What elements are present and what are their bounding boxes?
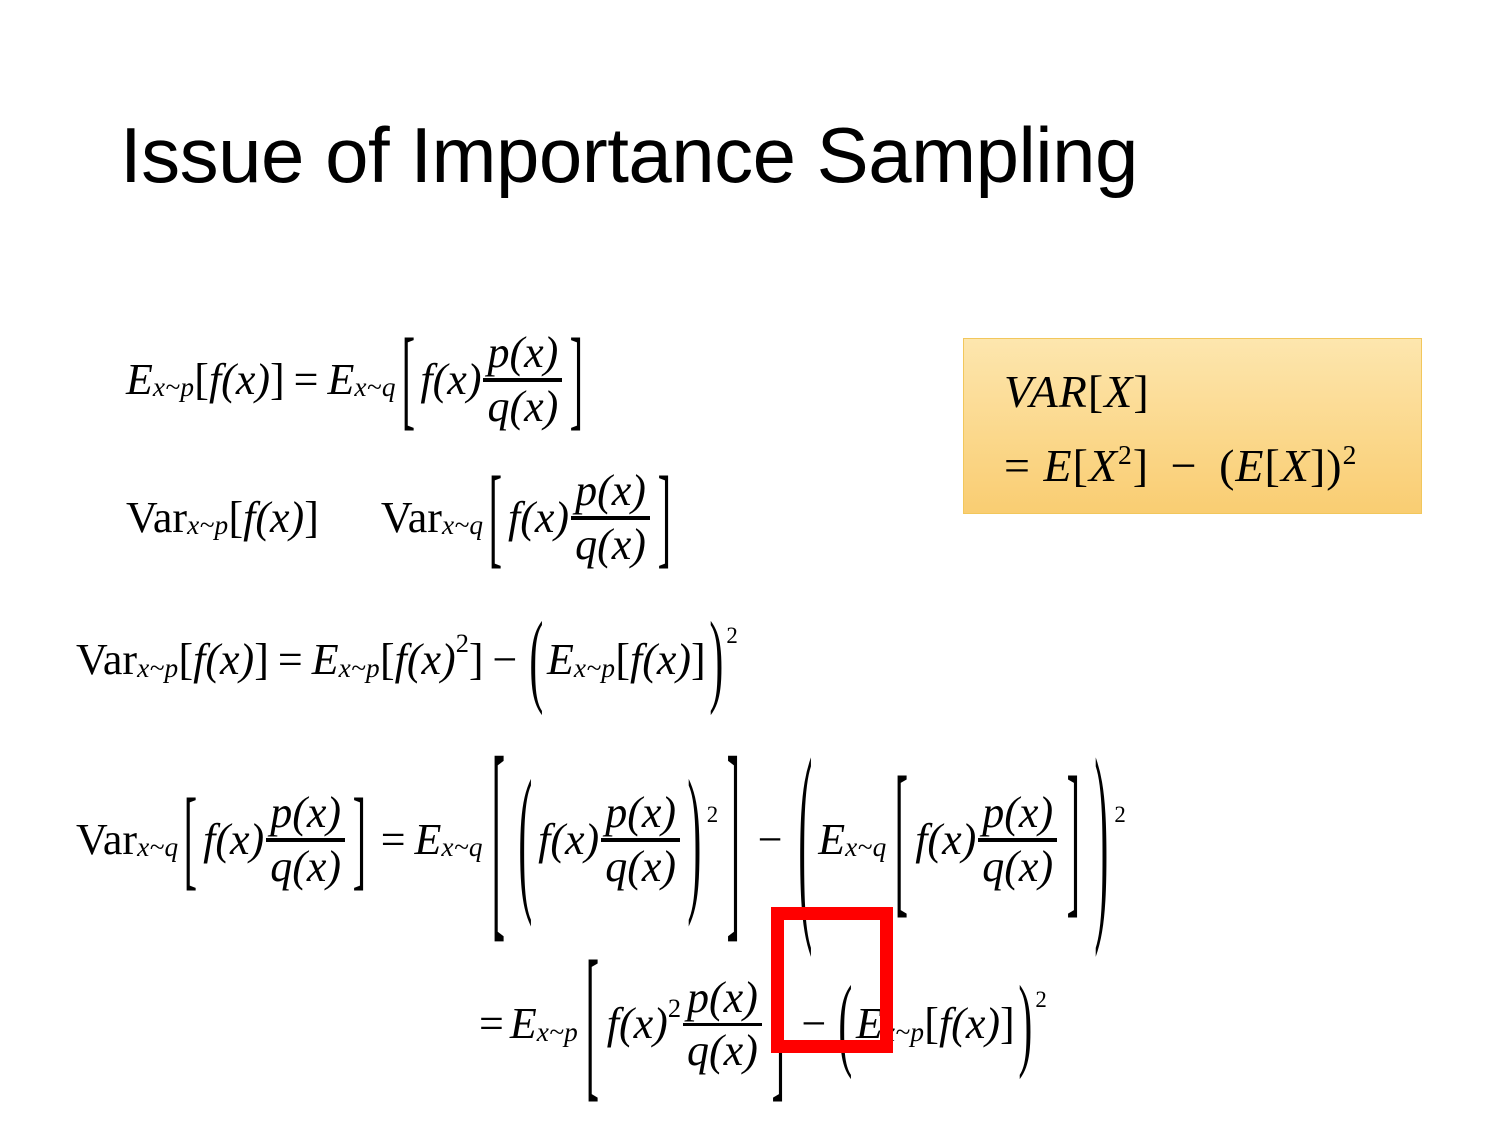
eq5-bracket-open-2: [ bbox=[924, 1002, 939, 1046]
callout-bracket-close-2: ] bbox=[1310, 440, 1326, 491]
eq5-E-2: E bbox=[856, 1002, 883, 1046]
eq4-sub-var: x~q bbox=[137, 834, 178, 861]
equation-5: = Ex~p [ f(x)2 p(x) q(x) ] − ( Ex~p [ f(… bbox=[473, 975, 1047, 1074]
eq1-equals: = bbox=[294, 358, 319, 402]
equation-4: Varx~q [ f(x) p(x) q(x) ] = Ex~q [ ( f(x… bbox=[76, 790, 1126, 890]
callout-X: X bbox=[1104, 366, 1133, 417]
eq4-sub-e1: x~q bbox=[441, 834, 482, 861]
equation-1: Ex~p [ f(x) ] = Ex~q [ f(x) p(x) q(x) ] bbox=[126, 330, 589, 430]
callout-X-1: X bbox=[1089, 440, 1118, 491]
eq3-exponent-1: 2 bbox=[456, 630, 469, 656]
eq2-numerator: p(x) bbox=[571, 468, 650, 515]
callout-X-2: X bbox=[1281, 440, 1310, 491]
eq5-bracket-close-1: ] bbox=[771, 938, 784, 1110]
eq3-bracket-close-1: ] bbox=[254, 638, 269, 682]
eq2-fx-right: f(x) bbox=[508, 496, 569, 540]
eq1-bracket-open-right: [ bbox=[401, 324, 414, 436]
eq3-paren-close: ) bbox=[709, 608, 723, 711]
eq5-fx-1: f(x) bbox=[607, 1002, 668, 1046]
eq4-fraction-2: p(x) q(x) bbox=[601, 790, 680, 890]
callout-bracket-close: ] bbox=[1133, 366, 1149, 417]
eq3-paren-open: ( bbox=[530, 608, 544, 711]
eq4-equals: = bbox=[381, 818, 406, 862]
eq4-fx-1: f(x) bbox=[203, 818, 264, 862]
callout-bracket-open-1: [ bbox=[1073, 440, 1089, 491]
eq1-fx-right: f(x) bbox=[420, 358, 481, 402]
eq4-bracket-open-2: [ bbox=[491, 728, 504, 952]
eq4-paren-open-1: ( bbox=[519, 758, 533, 921]
eq3-bracket-close-3: ] bbox=[691, 638, 706, 682]
eq2-bracket-close-left: ] bbox=[304, 496, 319, 540]
eq4-denominator-2: q(x) bbox=[601, 843, 680, 890]
eq5-exponent-2: 2 bbox=[1035, 989, 1046, 1012]
eq4-fraction-3: p(x) q(x) bbox=[978, 790, 1057, 890]
eq5-bracket-close-2: ] bbox=[1000, 1002, 1015, 1046]
eq1-fraction-p-over-q: p(x) q(x) bbox=[483, 330, 562, 430]
eq4-denominator-3: q(x) bbox=[978, 843, 1057, 890]
eq2-Var-left: Var bbox=[126, 496, 187, 540]
callout-minus: − bbox=[1171, 440, 1198, 491]
eq1-bracket-close-left: ] bbox=[270, 358, 285, 402]
callout-line-2: = E[X2] − (E[X])2 bbox=[1004, 439, 1357, 492]
eq3-fx-2: f(x) bbox=[395, 638, 456, 682]
eq3-equals: = bbox=[278, 638, 303, 682]
eq4-fx-2: f(x) bbox=[538, 818, 599, 862]
eq4-E-1: E bbox=[415, 818, 442, 862]
callout-exponent-2: 2 bbox=[1343, 439, 1358, 470]
callout-exponent-1: 2 bbox=[1118, 439, 1133, 470]
eq3-fx-1: f(x) bbox=[193, 638, 254, 682]
callout-VAR: VAR bbox=[1004, 366, 1088, 417]
eq2-fraction-p-over-q: p(x) q(x) bbox=[571, 468, 650, 568]
eq4-numerator-2: p(x) bbox=[601, 790, 680, 837]
eq3-bracket-close-2: ] bbox=[469, 638, 484, 682]
eq4-bracket-close-2: ] bbox=[727, 728, 740, 952]
eq5-E-1: E bbox=[510, 1002, 537, 1046]
eq4-bracket-open-3: [ bbox=[894, 754, 907, 926]
equation-2: Varx~p [ f(x) ] Varx~q [ f(x) p(x) q(x) … bbox=[126, 468, 677, 568]
slide-canvas: Issue of Importance Sampling Ex~p [ f(x)… bbox=[0, 0, 1500, 1125]
eq5-fraction-highlighted: p(x) q(x) bbox=[683, 975, 762, 1074]
callout-bracket-close-1: ] bbox=[1133, 440, 1149, 491]
equation-3: Varx~p [ f(x) ] = Ex~p [ f(x)2 ] − ( Ex~… bbox=[76, 638, 738, 682]
eq5-fx-2: f(x) bbox=[939, 1002, 1000, 1046]
eq4-bracket-close-3: ] bbox=[1067, 754, 1080, 926]
eq4-numerator-1: p(x) bbox=[266, 790, 345, 837]
eq2-sub-left: x~p bbox=[187, 512, 228, 539]
eq4-sub-e2: x~q bbox=[845, 834, 886, 861]
eq3-E-2: E bbox=[547, 638, 574, 682]
eq4-denominator-1: q(x) bbox=[266, 843, 345, 890]
eq2-denominator: q(x) bbox=[571, 521, 650, 568]
eq4-numerator-3: p(x) bbox=[978, 790, 1057, 837]
eq5-denominator: q(x) bbox=[683, 1027, 762, 1074]
eq4-Var: Var bbox=[76, 818, 137, 862]
eq5-minus: − bbox=[802, 1002, 827, 1046]
eq4-fx-3: f(x) bbox=[915, 818, 976, 862]
eq1-numerator: p(x) bbox=[483, 330, 562, 377]
eq3-sub-var: x~p bbox=[137, 655, 178, 682]
eq4-paren-open-2: ( bbox=[798, 730, 812, 950]
eq4-minus: − bbox=[758, 818, 783, 862]
eq2-fx-left: f(x) bbox=[243, 496, 304, 540]
eq3-sub-e1: x~p bbox=[339, 655, 380, 682]
eq1-bracket-open-left: [ bbox=[194, 358, 209, 402]
eq5-paren-close: ) bbox=[1018, 973, 1032, 1076]
eq2-bracket-close-right: ] bbox=[657, 462, 670, 574]
eq5-bracket-open-1: [ bbox=[586, 938, 599, 1110]
eq1-sub-left: x~p bbox=[153, 374, 194, 401]
callout-paren-open: ( bbox=[1219, 440, 1235, 491]
eq3-Var: Var bbox=[76, 638, 137, 682]
callout-bracket-open: [ bbox=[1088, 366, 1104, 417]
eq3-sub-e2: x~p bbox=[574, 655, 615, 682]
eq4-exponent-1: 2 bbox=[707, 804, 718, 827]
eq3-exponent-2: 2 bbox=[726, 625, 737, 648]
eq4-exponent-2: 2 bbox=[1114, 804, 1125, 827]
eq2-sub-right: x~q bbox=[442, 512, 483, 539]
eq4-E-2: E bbox=[818, 818, 845, 862]
eq5-sub-e1: x~p bbox=[537, 1019, 578, 1046]
eq4-bracket-close-1: ] bbox=[353, 784, 366, 896]
eq2-Var-right: Var bbox=[381, 496, 442, 540]
eq5-equals: = bbox=[479, 1002, 504, 1046]
eq3-minus: − bbox=[493, 638, 518, 682]
eq4-fraction-1: p(x) q(x) bbox=[266, 790, 345, 890]
callout-bracket-open-2: [ bbox=[1265, 440, 1281, 491]
eq2-bracket-open-right: [ bbox=[489, 462, 502, 574]
callout-line-1: VAR[X] bbox=[1004, 365, 1150, 418]
eq3-bracket-open-1: [ bbox=[178, 638, 193, 682]
callout-E-2: E bbox=[1235, 440, 1264, 491]
eq5-exponent-1: 2 bbox=[668, 995, 681, 1021]
eq5-numerator: p(x) bbox=[683, 975, 762, 1022]
callout-E-1: E bbox=[1043, 440, 1072, 491]
eq4-bracket-open-1: [ bbox=[184, 784, 197, 896]
eq3-bracket-open-2: [ bbox=[380, 638, 395, 682]
eq5-sub-e2: x~p bbox=[883, 1019, 924, 1046]
variance-identity-callout: VAR[X] = E[X2] − (E[X])2 bbox=[963, 338, 1422, 514]
eq2-bracket-open-left: [ bbox=[228, 496, 243, 540]
eq5-paren-open: ( bbox=[839, 973, 853, 1076]
eq1-E-right: E bbox=[327, 358, 354, 402]
callout-equals: = bbox=[1004, 440, 1031, 491]
eq1-fx-left: f(x) bbox=[209, 358, 270, 402]
eq1-E-left: E bbox=[126, 358, 153, 402]
page-title: Issue of Importance Sampling bbox=[120, 116, 1138, 194]
eq1-bracket-close-right: ] bbox=[570, 324, 583, 436]
callout-paren-close: ) bbox=[1326, 440, 1342, 491]
eq4-paren-close-2: ) bbox=[1094, 730, 1108, 950]
eq4-paren-close-1: ) bbox=[687, 758, 701, 921]
eq3-fx-3: f(x) bbox=[630, 638, 691, 682]
eq3-bracket-open-3: [ bbox=[615, 638, 630, 682]
eq1-sub-right: x~q bbox=[354, 374, 395, 401]
eq1-denominator: q(x) bbox=[483, 383, 562, 430]
eq3-E-1: E bbox=[312, 638, 339, 682]
